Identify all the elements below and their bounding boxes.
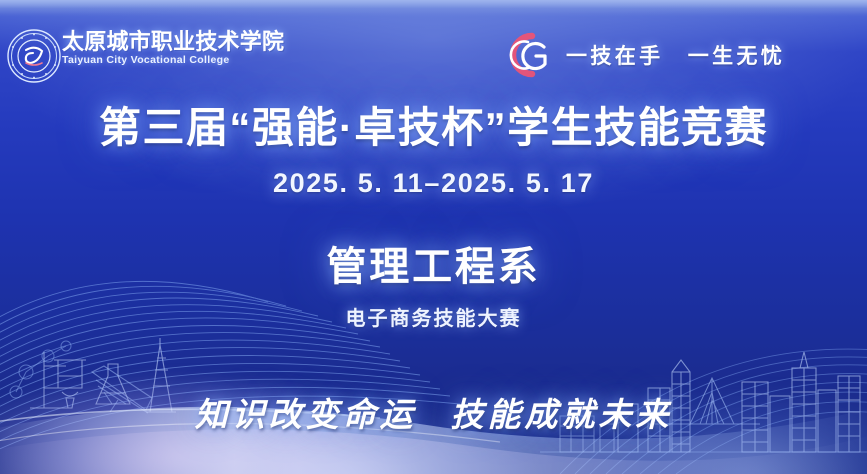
brand-slogan: 一技在手 一生无忧 [566, 40, 785, 70]
school-name-cn: 太原城市职业技术学院 [62, 30, 292, 53]
event-subtitle: 电子商务技能大赛 [0, 302, 867, 331]
footer-motto: 知识改变命运技能成就未来 [0, 388, 867, 436]
banner-header: 太原城市职业技术学院 Taiyuan City Vocational Colle… [0, 24, 867, 86]
school-name-en: Taiyuan City Vocational College [62, 53, 292, 68]
college-seal-icon [6, 28, 62, 84]
top-sheen-decor [0, 0, 867, 14]
competition-banner: 太原城市职业技术学院 Taiyuan City Vocational Colle… [0, 0, 867, 474]
department-name: 管理工程系 [0, 234, 867, 292]
motto-left: 知识改变命运 [195, 398, 417, 434]
page-title: 第三届“强能·卓技杯”学生技能竞赛 [0, 104, 867, 153]
school-name-block: 太原城市职业技术学院 Taiyuan City Vocational Colle… [62, 30, 292, 82]
cg-monogram-icon [498, 30, 562, 80]
date-range: 2025. 5. 11–2025. 5. 17 [0, 168, 867, 199]
motto-right: 技能成就未来 [451, 398, 673, 434]
